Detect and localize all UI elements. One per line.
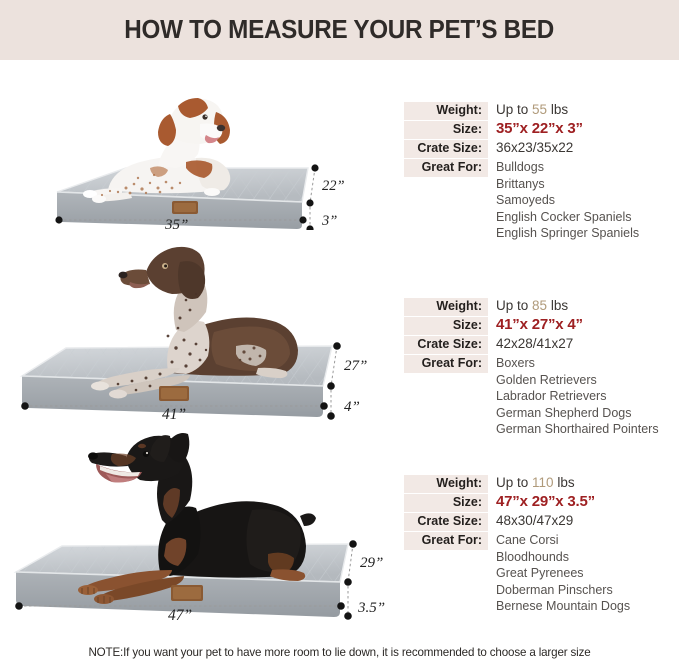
value-crate-size: 48x30/47x29 <box>488 513 573 529</box>
breed-item: Bloodhounds <box>496 549 630 566</box>
breed-item: Brittanys <box>496 176 639 193</box>
weight-number: 110 <box>532 475 554 490</box>
breed-item: Boxers <box>496 355 659 372</box>
page-title: HOW TO MEASURE YOUR PET’S BED <box>125 16 555 45</box>
breed-item: Cane Corsi <box>496 532 630 549</box>
spec-row-crate-size: Crate Size: 36x23/35x22 <box>404 140 639 158</box>
label-crate-size: Crate Size: <box>404 513 488 531</box>
breed-item: German Shepherd Dogs <box>496 405 659 422</box>
weight-prefix: Up to <box>496 475 532 490</box>
value-crate-size: 36x23/35x22 <box>488 140 573 156</box>
label-great-for: Great For: <box>404 532 488 550</box>
footer-note: NOTE:If you want your pet to have more r… <box>0 646 679 659</box>
bed-illustration-medium: 27” 4” 41” <box>0 228 400 423</box>
spec-row-weight: Weight: Up to 55 lbs <box>404 102 639 120</box>
weight-suffix: lbs <box>554 475 575 490</box>
spec-panel-large: Weight: Up to 110 lbs Size: 47”x 29”x 3.… <box>404 475 630 616</box>
weight-suffix: lbs <box>547 102 568 117</box>
dim-height-label: 4” <box>344 399 360 415</box>
breed-list: Cane Corsi Bloodhounds Great Pyrenees Do… <box>488 532 630 615</box>
breed-item: Samoyeds <box>496 192 639 209</box>
label-size: Size: <box>404 494 488 512</box>
spec-row-great-for: Great For: Cane Corsi Bloodhounds Great … <box>404 532 630 615</box>
breed-item: Great Pyrenees <box>496 565 630 582</box>
spec-row-size: Size: 35”x 22”x 3” <box>404 121 639 139</box>
breed-item: English Cocker Spaniels <box>496 209 639 226</box>
label-great-for: Great For: <box>404 355 488 373</box>
spec-row-weight: Weight: Up to 85 lbs <box>404 298 659 316</box>
weight-prefix: Up to <box>496 298 532 313</box>
section-large: 29” 3.5” 47” Weight: Up to 110 lbs Size:… <box>0 424 679 639</box>
value-weight: Up to 85 lbs <box>488 298 568 314</box>
section-medium: 27” 4” 41” Weight: Up to 85 lbs Size: 41… <box>0 228 679 423</box>
dim-width-label: 47” <box>168 607 192 624</box>
breed-item: Bulldogs <box>496 159 639 176</box>
label-size: Size: <box>404 121 488 139</box>
dim-height-label: 3” <box>321 213 337 229</box>
dim-depth-label: 22” <box>322 178 345 194</box>
value-weight: Up to 55 lbs <box>488 102 568 118</box>
breed-item: Labrador Retrievers <box>496 388 659 405</box>
bed-illustration-large: 29” 3.5” 47” <box>0 424 400 639</box>
weight-number: 85 <box>532 298 547 313</box>
label-great-for: Great For: <box>404 159 488 177</box>
value-weight: Up to 110 lbs <box>488 475 575 491</box>
bed-illustration-small: 22” 3” 35” <box>0 62 400 230</box>
brand-tag-small <box>172 201 198 214</box>
spec-row-size: Size: 47”x 29”x 3.5” <box>404 494 630 512</box>
spec-panel-medium: Weight: Up to 85 lbs Size: 41”x 27”x 4” … <box>404 298 659 439</box>
infographic-page: HOW TO MEASURE YOUR PET’S BED <box>0 0 679 668</box>
spec-row-weight: Weight: Up to 110 lbs <box>404 475 630 493</box>
weight-prefix: Up to <box>496 102 532 117</box>
brand-tag-medium <box>159 386 189 401</box>
value-crate-size: 42x28/41x27 <box>488 336 573 352</box>
value-size: 41”x 27”x 4” <box>488 317 583 333</box>
label-weight: Weight: <box>404 102 488 120</box>
weight-number: 55 <box>532 102 547 117</box>
dim-depth-label: 29” <box>360 555 383 571</box>
header-band: HOW TO MEASURE YOUR PET’S BED <box>0 0 679 60</box>
label-weight: Weight: <box>404 298 488 316</box>
dim-depth-label: 27” <box>344 358 367 374</box>
spec-row-crate-size: Crate Size: 48x30/47x29 <box>404 513 630 531</box>
label-crate-size: Crate Size: <box>404 140 488 158</box>
section-small: 22” 3” 35” Weight: Up to 55 lbs Size: 35… <box>0 62 679 230</box>
breed-item: Doberman Pinschers <box>496 582 630 599</box>
spec-panel-small: Weight: Up to 55 lbs Size: 35”x 22”x 3” … <box>404 102 639 243</box>
value-size: 47”x 29”x 3.5” <box>488 494 595 510</box>
weight-suffix: lbs <box>547 298 568 313</box>
breed-item: Bernese Mountain Dogs <box>496 598 630 615</box>
value-size: 35”x 22”x 3” <box>488 121 583 137</box>
spec-row-crate-size: Crate Size: 42x28/41x27 <box>404 336 659 354</box>
label-size: Size: <box>404 317 488 335</box>
label-weight: Weight: <box>404 475 488 493</box>
dim-height-label: 3.5” <box>357 600 385 616</box>
brand-tag-large <box>171 585 203 601</box>
spec-row-size: Size: 41”x 27”x 4” <box>404 317 659 335</box>
dim-width-label: 41” <box>162 406 186 423</box>
label-crate-size: Crate Size: <box>404 336 488 354</box>
breed-item: Golden Retrievers <box>496 372 659 389</box>
